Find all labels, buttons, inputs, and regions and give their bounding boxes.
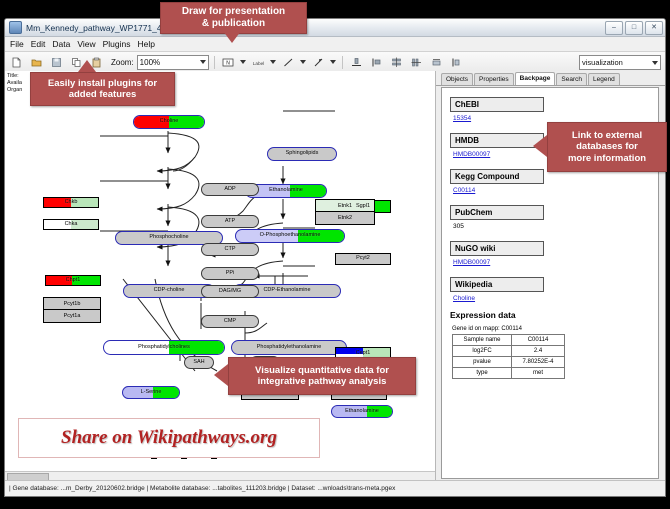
expression-data-title: Expression data: [450, 310, 658, 320]
gene-pcyt1a[interactable]: Pcyt1a: [44, 310, 100, 322]
distribute-icon[interactable]: [408, 54, 425, 71]
backpage-value-pubchem: 305: [453, 223, 658, 230]
callout-link: Link to external databases for more info…: [547, 122, 667, 172]
table-row: log2FC 2.4: [453, 346, 565, 357]
app-icon: [9, 21, 22, 34]
group-icon[interactable]: [428, 54, 445, 71]
callout-plugins: Easily install plugins for added feature…: [30, 72, 175, 106]
node-label: Phosphatidylethanolamine: [257, 345, 322, 351]
node-phosphatidylethanolamine[interactable]: Phosphatidylethanolamine: [231, 340, 347, 355]
tab-backpage[interactable]: Backpage: [515, 72, 556, 85]
datanode-dropdown-icon[interactable]: [240, 56, 247, 69]
toolbar-separator: [214, 56, 215, 69]
expression-value: met: [512, 368, 565, 379]
zoom-value: 100%: [140, 58, 160, 67]
node-label: CTP: [225, 247, 236, 253]
node-choline-top[interactable]: Choline: [133, 115, 205, 129]
gene-group-pcyt1[interactable]: Pcyt1b Pcyt1a: [43, 297, 101, 323]
order-icon[interactable]: [448, 54, 465, 71]
node-sah[interactable]: SAH: [184, 356, 214, 369]
backpage-header-wikipedia: Wikipedia: [450, 277, 544, 292]
chevron-down-icon[interactable]: [652, 61, 658, 65]
expression-key: type: [453, 368, 512, 379]
backpage-link-nugo[interactable]: HMDB00097: [453, 259, 658, 266]
node-label: ADP: [224, 187, 235, 193]
callout-visualize-arrow-icon: [214, 364, 228, 386]
toolbar-separator-2: [342, 56, 343, 69]
backpage-header-chebi: ChEBI: [450, 97, 544, 112]
node-label: CDP-Ethanolamine: [263, 288, 310, 294]
expression-table: Sample name C00114 log2FC 2.4 pvalue 7.8…: [452, 334, 565, 379]
node-label: Chka: [65, 222, 78, 228]
callout-draw-text: Draw for presentation & publication: [182, 6, 285, 30]
gene-chka[interactable]: Chka: [43, 219, 99, 230]
node-label: O-Phosphoethanolamine: [260, 233, 321, 239]
node-sphingolipids[interactable]: Sphingolipids: [267, 147, 337, 161]
gene-etnk2[interactable]: Etnk2: [316, 212, 374, 224]
expression-value: C00114: [512, 335, 565, 346]
callout-draw: Draw for presentation & publication: [160, 2, 307, 34]
menu-view[interactable]: View: [77, 39, 95, 49]
node-label: Ethanolamine: [345, 409, 379, 415]
toolbar[interactable]: Zoom: 100% N Label: [5, 52, 665, 73]
callout-plugins-text: Easily install plugins for added feature…: [48, 78, 157, 101]
node-label: ATP: [225, 219, 235, 225]
node-label: L-Serine: [141, 390, 162, 396]
save-icon[interactable]: [48, 54, 65, 71]
backpage-link-wikipedia[interactable]: Choline: [453, 295, 658, 302]
expression-key: Sample name: [453, 335, 512, 346]
tab-legend[interactable]: Legend: [588, 73, 620, 85]
node-ethanolamine-2[interactable]: Ethanolamine: [331, 405, 393, 418]
callout-visualize-text: Visualize quantitative data for integrat…: [255, 365, 389, 388]
close-button[interactable]: ✕: [645, 21, 663, 35]
node-o-phosphoethanolamine[interactable]: O-Phosphoethanolamine: [235, 229, 345, 243]
maximize-button[interactable]: □: [625, 21, 643, 35]
node-label: Sgpl1: [356, 204, 370, 210]
node-label: DAG/MG: [219, 289, 241, 295]
align-bottom-icon[interactable]: [348, 54, 365, 71]
stack-rows-icon[interactable]: [388, 54, 405, 71]
callout-draw-arrow-icon: [223, 31, 241, 43]
menu-file[interactable]: File: [10, 39, 24, 49]
menu-data[interactable]: Data: [52, 39, 70, 49]
zoom-label: Zoom:: [111, 58, 134, 67]
node-dag-mg[interactable]: DAG/MG: [201, 285, 259, 298]
window-controls[interactable]: – □ ✕: [605, 21, 665, 35]
line-icon[interactable]: [280, 54, 297, 71]
node-cmp[interactable]: CMP: [201, 315, 259, 328]
backpage-link-chebi[interactable]: 15354: [453, 115, 658, 122]
table-row: type met: [453, 368, 565, 379]
node-label: Sphingolipids: [286, 151, 319, 157]
side-panel-tabs[interactable]: Objects Properties Backpage Search Legen…: [436, 71, 665, 86]
backpage-header-nugo: NuGO wiki: [450, 241, 544, 256]
node-label: SAH: [193, 360, 204, 366]
node-l-serine-1[interactable]: L-Serine: [122, 386, 180, 399]
new-file-icon[interactable]: [8, 54, 25, 71]
arrow-dropdown-icon[interactable]: [330, 56, 337, 69]
expression-gene-id: Gene id on mapp: C00114: [452, 326, 658, 332]
title-bar: Mm_Kennedy_pathway_WP1771_45176.gpml – □…: [5, 19, 665, 37]
table-row: pvalue 7.80252E-4: [453, 357, 565, 368]
backpage-header-pubchem: PubChem: [450, 205, 544, 220]
align-left-icon[interactable]: [368, 54, 385, 71]
node-label: CMP: [224, 319, 236, 325]
menu-bar[interactable]: File Edit Data View Plugins Help: [5, 37, 665, 52]
callout-link-text: Link to external databases for more info…: [568, 130, 646, 164]
backpage-link-kegg[interactable]: C00114: [453, 187, 658, 194]
node-label: CDP-choline: [154, 288, 185, 294]
node-phosphatidylcholines[interactable]: Phosphatidylcholines: [103, 340, 225, 355]
node-label: PPi: [226, 271, 235, 277]
expression-value: 2.4: [512, 346, 565, 357]
expression-key: pvalue: [453, 357, 512, 368]
visualization-combobox[interactable]: visualization: [579, 55, 661, 70]
node-label: Chpt1: [66, 278, 81, 284]
node-adp[interactable]: ADP: [201, 183, 259, 196]
expression-key: log2FC: [453, 346, 512, 357]
node-label: Cept1: [356, 351, 371, 357]
status-bar: | Gene database: ...m_Derby_20120602.bri…: [5, 480, 665, 496]
menu-edit[interactable]: Edit: [31, 39, 46, 49]
backpage-header-kegg: Kegg Compound: [450, 169, 544, 184]
table-row: Sample name C00114: [453, 335, 565, 346]
node-label: Chkb: [65, 200, 78, 206]
node-ppi[interactable]: PPi: [201, 267, 259, 280]
status-text: | Gene database: ...m_Derby_20120602.bri…: [9, 485, 395, 492]
callout-plugins-arrow-icon: [78, 60, 96, 72]
node-ctp[interactable]: CTP: [201, 243, 259, 256]
gene-chkb[interactable]: Chkb: [43, 197, 99, 208]
tab-search[interactable]: Search: [556, 73, 587, 85]
minimize-button[interactable]: –: [605, 21, 623, 35]
screenshot-root: Mm_Kennedy_pathway_WP1771_45176.gpml – □…: [0, 0, 670, 509]
callout-visualize: Visualize quantitative data for integrat…: [228, 357, 416, 395]
node-label: Pcyt2: [356, 256, 370, 262]
label-icon[interactable]: Label: [250, 54, 267, 71]
chevron-down-icon[interactable]: [200, 60, 206, 64]
callout-share-text: Share on Wikipathways.org: [61, 427, 277, 449]
callout-share: Share on Wikipathways.org: [18, 418, 320, 458]
svg-text:N: N: [226, 60, 230, 66]
line-dropdown-icon[interactable]: [300, 56, 307, 69]
gene-pcyt1b[interactable]: Pcyt1b: [44, 298, 100, 310]
menu-plugins[interactable]: Plugins: [103, 39, 131, 49]
callout-link-arrow-icon: [533, 135, 547, 157]
backpage-header-hmdb: HMDB: [450, 133, 544, 148]
tab-objects[interactable]: Objects: [441, 73, 473, 85]
menu-help[interactable]: Help: [138, 39, 155, 49]
expression-value: 7.80252E-4: [512, 357, 565, 368]
gene-pcyt2[interactable]: Pcyt2: [335, 253, 391, 265]
gene-chpt1[interactable]: Chpt1: [45, 275, 101, 286]
visualization-value: visualization: [582, 58, 623, 67]
open-folder-icon[interactable]: [28, 54, 45, 71]
node-label: Phosphatidylcholines: [138, 345, 190, 351]
svg-text:Label: Label: [252, 60, 263, 65]
tab-properties[interactable]: Properties: [474, 73, 514, 85]
node-atp[interactable]: ATP: [201, 215, 259, 228]
node-label: Choline: [160, 119, 179, 125]
node-label: Phosphocholine: [149, 235, 188, 241]
arrow-shape-icon[interactable]: [310, 54, 327, 71]
node-label: Ethanolamine: [269, 188, 303, 194]
label-dropdown-icon[interactable]: [270, 56, 277, 69]
datanode-icon[interactable]: N: [220, 54, 237, 71]
zoom-combobox[interactable]: 100%: [137, 55, 209, 70]
